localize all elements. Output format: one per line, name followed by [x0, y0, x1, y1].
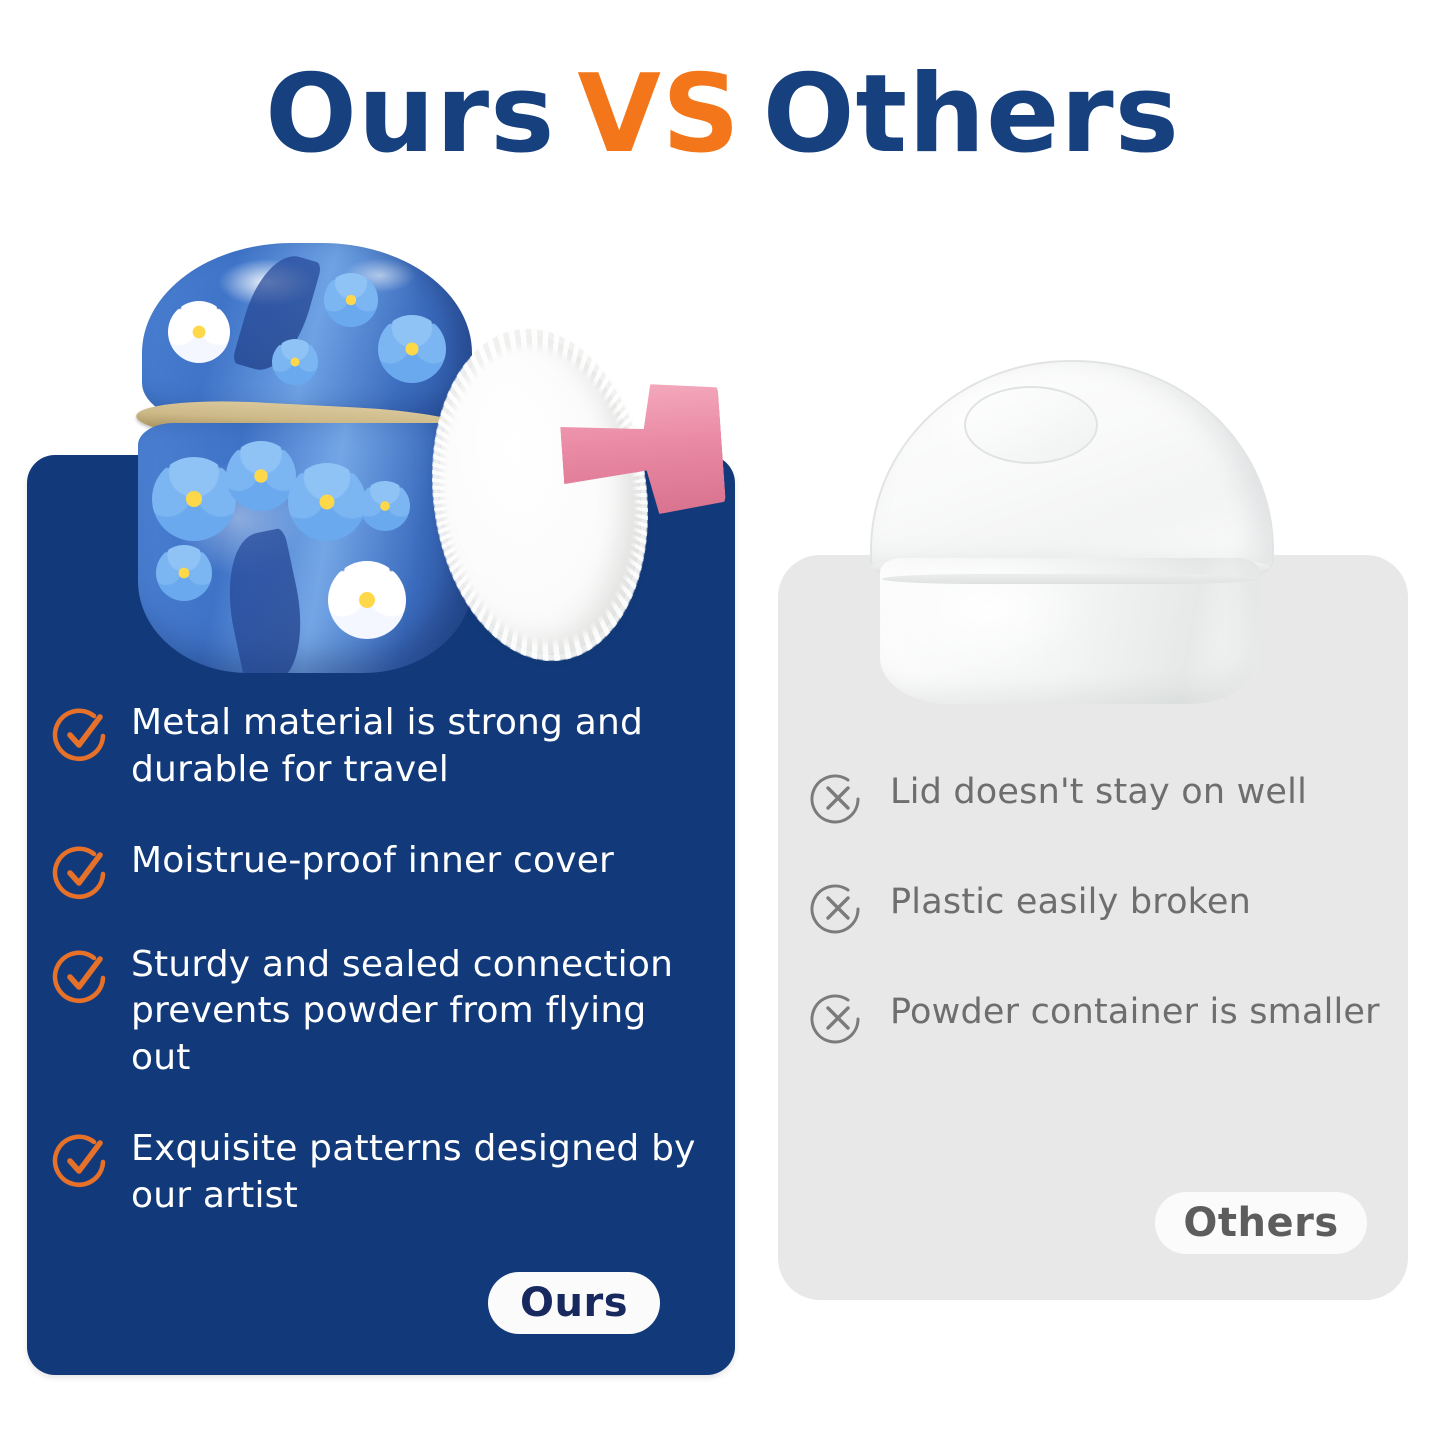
list-item: Powder container is smaller	[812, 990, 1392, 1044]
title-ours-text: Ours	[265, 52, 555, 177]
list-item-label: Lid doesn't stay on well	[890, 770, 1307, 816]
list-item-label: Sturdy and sealed connection prevents po…	[131, 942, 715, 1082]
list-item: Lid doesn't stay on well	[812, 770, 1392, 824]
x-circle-icon	[812, 882, 864, 934]
ours-badge: Ours	[488, 1272, 660, 1334]
page-title: OursVSOthers	[0, 58, 1445, 171]
list-item: Metal material is strong and durable for…	[55, 700, 715, 794]
list-item-label: Plastic easily broken	[890, 880, 1251, 926]
clear-dome-lid	[870, 360, 1274, 576]
container-ring	[882, 574, 1258, 584]
title-vs-text: VS	[577, 52, 740, 177]
x-circle-icon	[812, 772, 864, 824]
title-others-text: Others	[763, 52, 1180, 177]
check-circle-icon	[55, 844, 109, 898]
check-circle-icon	[55, 1132, 109, 1186]
list-item-label: Exquisite patterns designed by our artis…	[131, 1126, 715, 1220]
others-drawback-list: Lid doesn't stay on well Plastic easily …	[812, 770, 1392, 1044]
list-item-label: Metal material is strong and durable for…	[131, 700, 715, 794]
ours-product-image	[110, 225, 730, 685]
jar-body	[138, 423, 473, 673]
list-item: Sturdy and sealed connection prevents po…	[55, 942, 715, 1082]
check-circle-icon	[55, 948, 109, 1002]
check-circle-icon	[55, 706, 109, 760]
list-item: Plastic easily broken	[812, 880, 1392, 934]
others-product-image	[852, 352, 1302, 712]
jar-lid	[142, 243, 472, 423]
x-circle-icon	[812, 992, 864, 1044]
comparison-infographic: OursVSOthers	[0, 0, 1445, 1445]
list-item-label: Moistrue-proof inner cover	[131, 838, 614, 885]
others-badge: Others	[1155, 1192, 1367, 1254]
list-item: Exquisite patterns designed by our artis…	[55, 1126, 715, 1220]
dome-knob	[964, 386, 1098, 464]
ours-feature-list: Metal material is strong and durable for…	[55, 700, 715, 1220]
list-item-label: Powder container is smaller	[890, 990, 1380, 1036]
list-item: Moistrue-proof inner cover	[55, 838, 715, 898]
